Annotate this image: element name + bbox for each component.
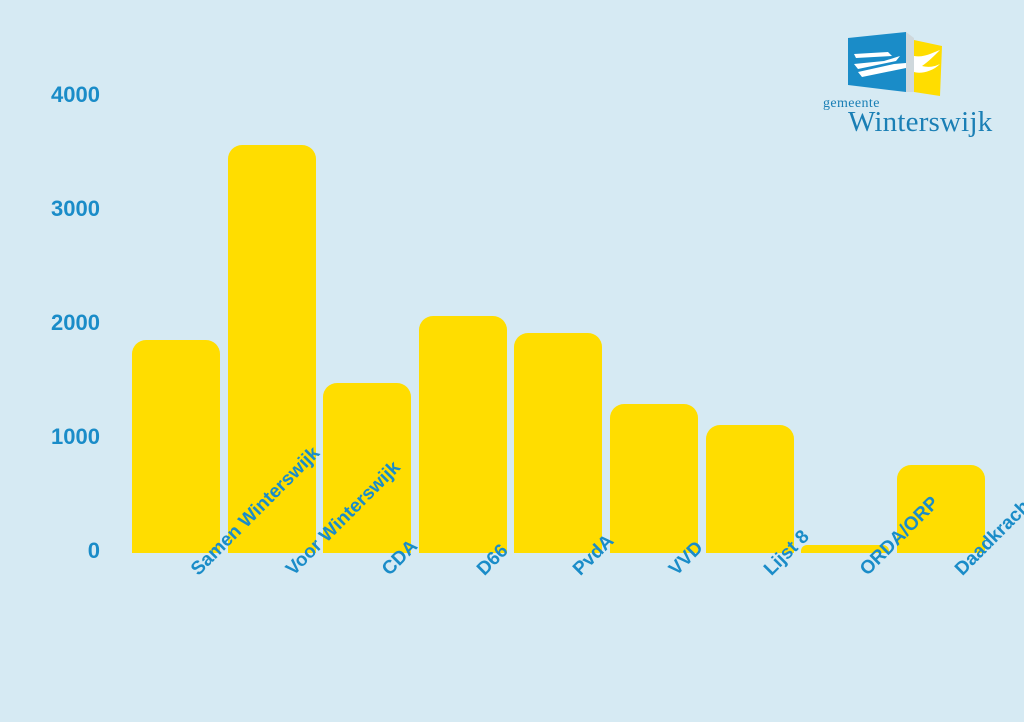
x-axis-tick-label: D66 <box>473 540 513 580</box>
chart-canvas: gemeente Winterswijk 01000200030004000 S… <box>0 0 1024 722</box>
x-axis-tick-label: PvdA <box>569 531 619 581</box>
bar-chart: 01000200030004000 Samen WinterswijkVoor … <box>0 0 1024 722</box>
x-axis-tick-label: Daadkracht.nu <box>951 472 1024 581</box>
x-axis-tick-label: VVD <box>665 537 708 580</box>
x-axis-tick-label: ORDA/ORP <box>856 493 944 581</box>
x-axis-tick-label: CDA <box>378 536 423 581</box>
x-axis-tick-label: Lijst 8 <box>760 526 814 580</box>
x-axis: Samen WinterswijkVoor WinterswijkCDAD66P… <box>0 0 1024 722</box>
